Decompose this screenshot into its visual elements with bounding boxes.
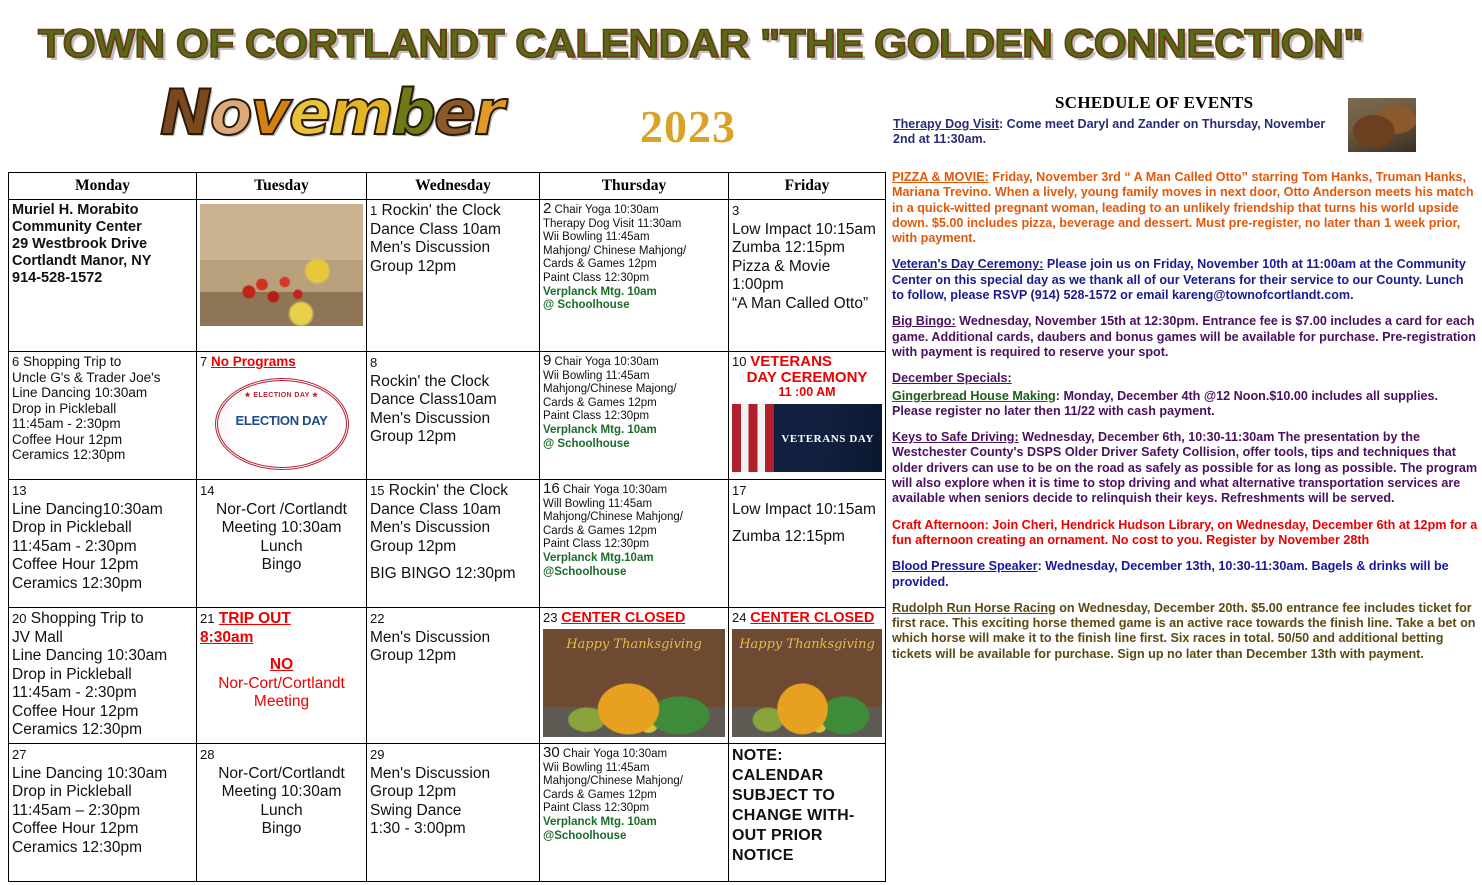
rudolph-run-label: Rudolph Run Horse Racing [892, 601, 1056, 615]
cell-note-disclaimer: NOTE: CALENDAR SUBJECT TO CHANGE WITH- O… [729, 744, 886, 882]
center-name-line1: Muriel H. Morabito [12, 202, 193, 219]
event-line: Mahjong/Chinese Mahjong/ [543, 511, 725, 525]
event-line: Men's Discussion [370, 410, 536, 429]
day-number-10: 10 [732, 354, 746, 369]
event-line: Wii Bowling 11:45am [543, 370, 725, 384]
therapy-dog-visit-entry: Therapy Dog Visit: Come meet Daryl and Z… [893, 117, 1338, 147]
center-closed-label: CENTER CLOSED [561, 610, 685, 626]
no-programs-label: No Programs [211, 354, 296, 369]
event-line: Paint Class 12:30pm [543, 802, 725, 816]
veterans-title-1: VETERANS [750, 353, 832, 370]
page-header: TOWN OF CORTLANDT CALENDAR "THE GOLDEN C… [0, 0, 1482, 168]
event-line: Group 12pm [370, 647, 536, 666]
event-line: Chair Yoga 10:30am [563, 484, 667, 496]
event-line: Rockin' the Clock [389, 482, 508, 499]
event-line: Uncle G's & Trader Joe's [12, 370, 193, 386]
no-meeting-label: NO [200, 656, 363, 675]
event-line: Chair Yoga 10:30am [555, 204, 659, 216]
day-number-8: 8 [370, 354, 536, 373]
event-line: Group 12pm [370, 258, 536, 277]
event-line: Coffee Hour 12pm [12, 432, 193, 448]
gingerbread-label: Gingerbread House Making [892, 389, 1056, 403]
verplanck-meeting-line: Verplanck Mtg. 10am [543, 424, 725, 438]
event-line: Nor-Cort/Cortlandt [200, 765, 363, 784]
calendar-week-row: 20 Shopping Trip to JV Mall Line Dancing… [9, 608, 886, 744]
event-line: Coffee Hour 12pm [12, 703, 193, 722]
event-line: Drop in Pickleball [12, 666, 193, 685]
cell-day-16: 16 Chair Yoga 10:30am Will Bowling 11:45… [540, 480, 729, 608]
cell-day-24: 24 CENTER CLOSED [729, 608, 886, 744]
event-line: Therapy Dog Visit 11:30am [543, 218, 725, 232]
event-line: Ceramics 12:30pm [12, 721, 193, 740]
cell-day-14: 14 Nor-Cort /Cortlandt Meeting 10:30am L… [197, 480, 367, 608]
calendar-week-row: Muriel H. Morabito Community Center 29 W… [9, 200, 886, 352]
event-line: Dance Class10am [370, 391, 536, 410]
cell-day-27: 27 Line Dancing 10:30am Drop in Pickleba… [9, 744, 197, 882]
cell-center-info: Muriel H. Morabito Community Center 29 W… [9, 200, 197, 352]
event-line: 1:30 - 3:00pm [370, 820, 536, 839]
cell-decorative-autumn [197, 200, 367, 352]
note-line: OUT PRIOR [732, 826, 882, 846]
calendar-week-row: 13 Line Dancing10:30am Drop in Picklebal… [9, 480, 886, 608]
event-line: Coffee Hour 12pm [12, 556, 193, 575]
day-number-9: 9 [543, 352, 551, 369]
cell-day-29: 29 Men's Discussion Group 12pm Swing Dan… [367, 744, 540, 882]
happy-thanksgiving-photo [543, 629, 725, 737]
cell-spacer [370, 556, 536, 565]
event-line: Ceramics 12:30pm [12, 447, 193, 463]
cell-day-1: 1 Rockin' the Clock Dance Class 10am Men… [367, 200, 540, 352]
event-line: Pizza & Movie [732, 258, 882, 277]
event-line: Mahjong/Chinese Majong/ [543, 383, 725, 397]
event-big-bingo: Big Bingo: Wednesday, November 15th at 1… [892, 314, 1478, 360]
day-number-21: 21 [200, 611, 214, 626]
center-city-state: Cortlandt Manor, NY [12, 253, 193, 270]
cell-day-30: 30 Chair Yoga 10:30am Wii Bowling 11:45a… [540, 744, 729, 882]
therapy-dog-photo [1348, 98, 1416, 152]
event-line: Rockin' the Clock [382, 202, 501, 219]
cell-day-9: 9 Chair Yoga 10:30am Wii Bowling 11:45am… [540, 352, 729, 480]
event-line: Coffee Hour 12pm [12, 820, 193, 839]
event-line: JV Mall [12, 629, 193, 648]
note-line: SUBJECT TO [732, 786, 882, 806]
column-header-friday: Friday [729, 173, 886, 200]
event-line: Cards & Games 12pm [543, 397, 725, 411]
day-number-6: 6 [12, 354, 19, 369]
event-line: Zumba 12:15pm [732, 528, 882, 547]
verplanck-location-line: @Schoolhouse [543, 830, 725, 844]
event-line: Will Bowling 11:45am [543, 498, 725, 512]
event-line: Nor-Cort/Cortlandt [200, 675, 363, 694]
note-line: NOTICE [732, 846, 882, 866]
event-line: 11:45am - 2:30pm [12, 416, 193, 432]
event-line: Group 12pm [370, 538, 536, 557]
event-line: Meeting 10:30am [200, 783, 363, 802]
event-line: Chair Yoga 10:30am [555, 356, 659, 368]
event-line: Mahjong/Chinese Mahjong/ [543, 775, 725, 789]
verplanck-meeting-line: Verplanck Mtg. 10am [543, 816, 725, 830]
veterans-title-2: DAY CEREMONY [732, 370, 882, 386]
event-line: Swing Dance [370, 802, 536, 821]
day-number-14: 14 [200, 482, 363, 501]
day-number-15: 15 [370, 483, 384, 498]
column-header-monday: Monday [9, 173, 197, 200]
calendar-week-row: 6 Shopping Trip to Uncle G's & Trader Jo… [9, 352, 886, 480]
day-number-30: 30 [543, 744, 560, 761]
event-line: Shopping Trip to [23, 354, 121, 369]
event-line: Cards & Games 12pm [543, 789, 725, 803]
event-gingerbread-house-making: Gingerbread House Making: Monday, Decemb… [892, 389, 1478, 420]
event-line: “A Man Called Otto” [732, 295, 882, 314]
event-pizza-and-movie: PIZZA & MOVIE: Friday, November 3rd “ A … [892, 170, 1478, 246]
event-line: Zumba 12:15pm [732, 239, 882, 258]
day-number-17: 17 [732, 482, 882, 501]
event-line: Cards & Games 12pm [543, 258, 725, 272]
event-line: Line Dancing10:30am [12, 501, 193, 520]
event-line: Ceramics 12:30pm [12, 575, 193, 594]
cell-day-13: 13 Line Dancing10:30am Drop in Picklebal… [9, 480, 197, 608]
day-number-29: 29 [370, 746, 536, 765]
day-number-7: 7 [200, 354, 207, 369]
trip-out-time: 8:30am [200, 629, 363, 648]
event-line: Wii Bowling 11:45am [543, 231, 725, 245]
note-line: CHANGE WITH- [732, 806, 882, 826]
day-number-2: 2 [543, 200, 551, 217]
note-line: NOTE: [732, 746, 882, 766]
cell-day-23: 23 CENTER CLOSED [540, 608, 729, 744]
center-address: 29 Westbrook Drive [12, 236, 193, 253]
trip-out-label: TRIP OUT [219, 610, 291, 627]
verplanck-location-line: @ Schoolhouse [543, 438, 725, 452]
verplanck-location-line: @ Schoolhouse [543, 299, 725, 313]
december-specials-heading: December Specials: [892, 371, 1478, 386]
verplanck-location-line: @Schoolhouse [543, 566, 725, 580]
page-title: TOWN OF CORTLANDT CALENDAR "THE GOLDEN C… [38, 22, 1333, 67]
calendar-header-row: Monday Tuesday Wednesday Thursday Friday [9, 173, 886, 200]
event-line: Men's Discussion [370, 519, 536, 538]
event-line: Paint Class 12:30pm [543, 538, 725, 552]
event-line: Paint Class 12:30pm [543, 410, 725, 424]
event-line: Chair Yoga 10:30am [563, 748, 667, 760]
column-header-wednesday: Wednesday [367, 173, 540, 200]
veterans-day-banner-photo [732, 404, 882, 472]
event-line: Wii Bowling 11:45am [543, 762, 725, 776]
year-label: 2023 [640, 100, 736, 153]
event-line: Cards & Games 12pm [543, 525, 725, 539]
happy-thanksgiving-photo [732, 629, 882, 737]
month-title: November [160, 76, 503, 149]
center-name-line2: Community Center [12, 219, 193, 236]
cell-spacer [732, 519, 882, 528]
day-number-28: 28 [200, 746, 363, 765]
event-line: 11:45am - 2:30pm [12, 538, 193, 557]
event-line: Drop in Pickleball [12, 783, 193, 802]
veterans-ceremony-label: Veteran's Day Ceremony: [892, 257, 1043, 271]
autumn-berries-photo [200, 204, 363, 326]
event-craft-afternoon: Craft Afternoon: Join Cheri, Hendrick Hu… [892, 518, 1478, 549]
event-line: Men's Discussion [370, 629, 536, 648]
cell-spacer [200, 647, 363, 656]
event-line: Dance Class 10am [370, 501, 536, 520]
event-line: Group 12pm [370, 428, 536, 447]
veterans-time: 11 :00 AM [732, 385, 882, 401]
keys-safe-driving-label: Keys to Safe Driving: [892, 430, 1019, 444]
big-bingo-text: Wednesday, November 15th at 12:30pm. Ent… [892, 314, 1476, 359]
schedule-of-events-panel: PIZZA & MOVIE: Friday, November 3rd “ A … [892, 170, 1478, 882]
center-phone: 914-528-1572 [12, 270, 193, 287]
note-line: CALENDAR [732, 766, 882, 786]
event-line: Low Impact 10:15am [732, 501, 882, 520]
event-blood-pressure-speaker: Blood Pressure Speaker: Wednesday, Decem… [892, 559, 1478, 590]
day-number-27: 27 [12, 746, 193, 765]
big-bingo-label: Big Bingo: [892, 314, 956, 328]
verplanck-meeting-line: Verplanck Mtg. 10am [543, 286, 725, 300]
event-line: Drop in Pickleball [12, 519, 193, 538]
cell-day-15: 15 Rockin' the Clock Dance Class 10am Me… [367, 480, 540, 608]
cell-day-3: 3 Low Impact 10:15am Zumba 12:15pm Pizza… [729, 200, 886, 352]
big-bingo-line: BIG BINGO 12:30pm [370, 565, 536, 584]
cell-day-17: 17 Low Impact 10:15am Zumba 12:15pm [729, 480, 886, 608]
event-line: Lunch [200, 802, 363, 821]
event-line: Nor-Cort /Cortlandt [200, 501, 363, 520]
cell-day-21: 21 TRIP OUT 8:30am NO Nor-Cort/Cortlandt… [197, 608, 367, 744]
pizza-movie-label: PIZZA & MOVIE: [892, 170, 989, 184]
cell-day-6: 6 Shopping Trip to Uncle G's & Trader Jo… [9, 352, 197, 480]
day-number-1: 1 [370, 203, 377, 218]
center-closed-label: CENTER CLOSED [750, 610, 874, 626]
day-number-13: 13 [12, 482, 193, 501]
event-keys-to-safe-driving: Keys to Safe Driving: Wednesday, Decembe… [892, 430, 1478, 506]
event-line: 11:45am - 2:30pm [12, 684, 193, 703]
event-line: Lunch [200, 538, 363, 557]
event-line: Dance Class 10am [370, 221, 536, 240]
day-number-23: 23 [543, 610, 557, 625]
schedule-of-events-title: SCHEDULE OF EVENTS [1055, 93, 1253, 113]
election-day-stamp-icon [215, 378, 349, 470]
event-line: 1:00pm [732, 276, 882, 295]
event-line: Ceramics 12:30pm [12, 839, 193, 858]
day-number-24: 24 [732, 610, 746, 625]
calendar-week-row: 27 Line Dancing 10:30am Drop in Pickleba… [9, 744, 886, 882]
event-veterans-day-ceremony: Veteran's Day Ceremony: Please join us o… [892, 257, 1478, 303]
event-line: Group 12pm [370, 783, 536, 802]
monthly-calendar-table: Monday Tuesday Wednesday Thursday Friday… [8, 172, 886, 882]
event-line: 11:45am – 2:30pm [12, 802, 193, 821]
cell-day-8: 8 Rockin' the Clock Dance Class10am Men'… [367, 352, 540, 480]
event-line: Low Impact 10:15am [732, 221, 882, 240]
event-line: Mahjong/ Chinese Mahjong/ [543, 245, 725, 259]
event-line: Line Dancing 10:30am [12, 385, 193, 401]
day-number-22: 22 [370, 610, 536, 629]
column-header-thursday: Thursday [540, 173, 729, 200]
cell-day-22: 22 Men's Discussion Group 12pm [367, 608, 540, 744]
event-line: Paint Class 12:30pm [543, 272, 725, 286]
therapy-dog-visit-label: Therapy Dog Visit [893, 117, 999, 131]
event-line: Bingo [200, 820, 363, 839]
december-specials-label: December Specials: [892, 371, 1012, 385]
event-line: Men's Discussion [370, 239, 536, 258]
cell-day-7: 7 No Programs [197, 352, 367, 480]
event-line: Bingo [200, 556, 363, 575]
cell-day-10: 10 VETERANS DAY CEREMONY 11 :00 AM [729, 352, 886, 480]
event-line: Rockin' the Clock [370, 373, 536, 392]
cell-day-20: 20 Shopping Trip to JV Mall Line Dancing… [9, 608, 197, 744]
verplanck-meeting-line: Verplanck Mtg.10am [543, 552, 725, 566]
day-number-3: 3 [732, 202, 882, 221]
event-line: Shopping Trip to [31, 610, 144, 627]
event-line: Meeting [200, 693, 363, 712]
column-header-tuesday: Tuesday [197, 173, 367, 200]
event-rudolph-run-horse-racing: Rudolph Run Horse Racing on Wednesday, D… [892, 601, 1478, 662]
cell-day-28: 28 Nor-Cort/Cortlandt Meeting 10:30am Lu… [197, 744, 367, 882]
cell-day-2: 2 Chair Yoga 10:30am Therapy Dog Visit 1… [540, 200, 729, 352]
event-line: Line Dancing 10:30am [12, 765, 193, 784]
day-number-20: 20 [12, 611, 26, 626]
event-line: Men's Discussion [370, 765, 536, 784]
event-line: Line Dancing 10:30am [12, 647, 193, 666]
day-number-16: 16 [543, 480, 560, 497]
blood-pressure-label: Blood Pressure Speaker [892, 559, 1038, 573]
event-line: Drop in Pickleball [12, 401, 193, 417]
event-line: Meeting 10:30am [200, 519, 363, 538]
